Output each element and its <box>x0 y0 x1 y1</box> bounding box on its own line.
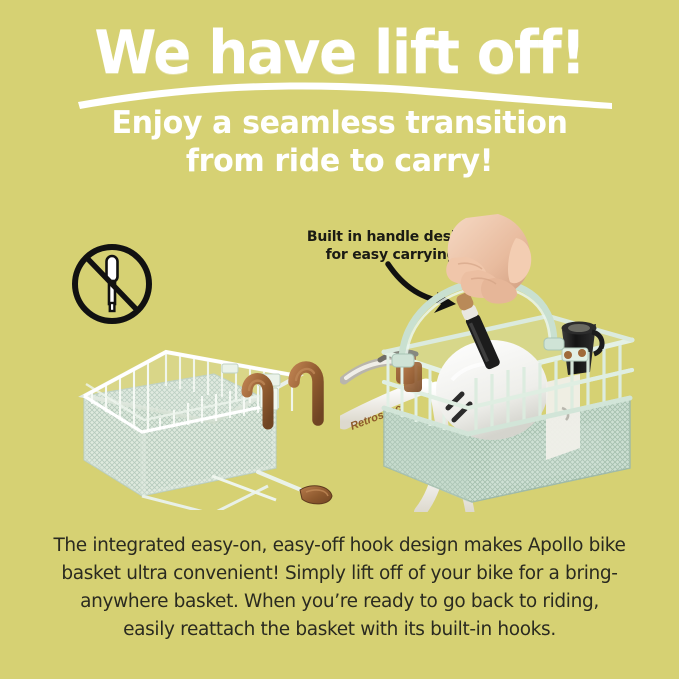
subheading-line-2: from ride to carry! <box>10 143 669 181</box>
product-marketing-poster: We have lift off! Enjoy a seamless trans… <box>0 0 679 679</box>
basket-detached-photo <box>62 300 352 510</box>
basket-on-bike-photo: Retrospec <box>340 212 640 512</box>
subheading-line-1: Enjoy a seamless transition <box>111 105 567 141</box>
page-title: We have lift off! <box>20 24 658 83</box>
headline-block: We have lift off! <box>0 24 679 83</box>
subheading: Enjoy a seamless transition from ride to… <box>10 105 669 181</box>
body-paragraph: The integrated easy-on, easy-off hook de… <box>52 532 627 644</box>
